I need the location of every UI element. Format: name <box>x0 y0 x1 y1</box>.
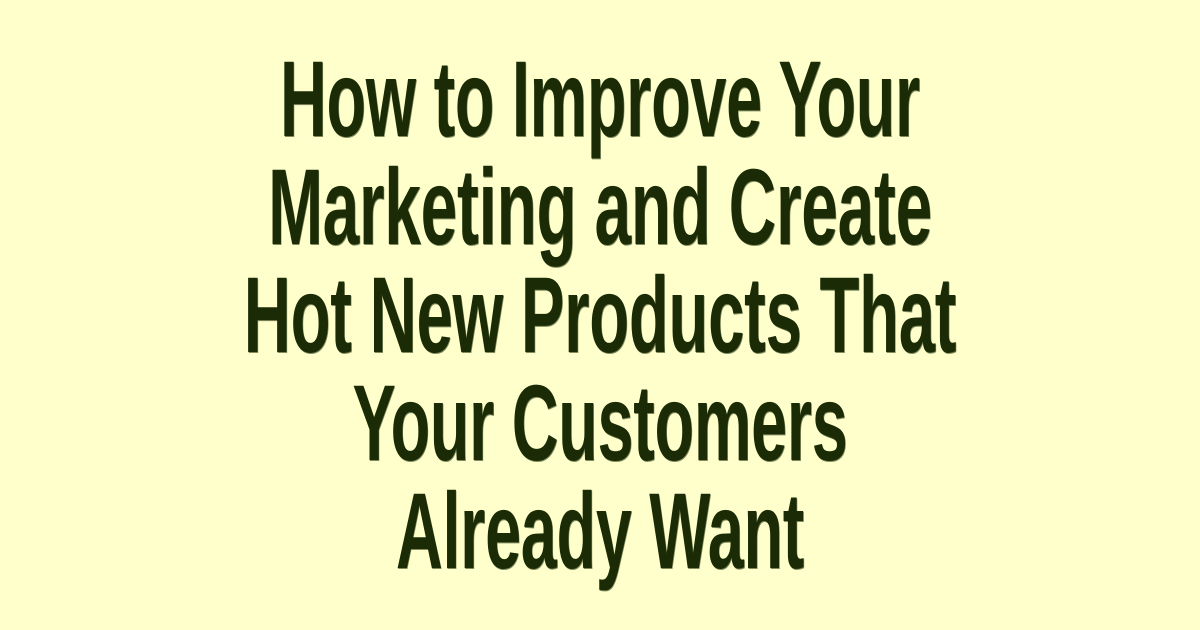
headline-line-2: Marketing and Create <box>234 153 966 261</box>
headline-line-4: Your Customers <box>240 369 960 477</box>
headline-line-1: How to Improve Your <box>240 45 960 153</box>
headline-line-3: Hot New Products That <box>237 261 963 369</box>
headline-line-5: Already Want <box>240 477 960 585</box>
title-card: How to Improve Your Marketing and Create… <box>0 0 1200 630</box>
page-title: How to Improve Your Marketing and Create… <box>0 45 1200 585</box>
